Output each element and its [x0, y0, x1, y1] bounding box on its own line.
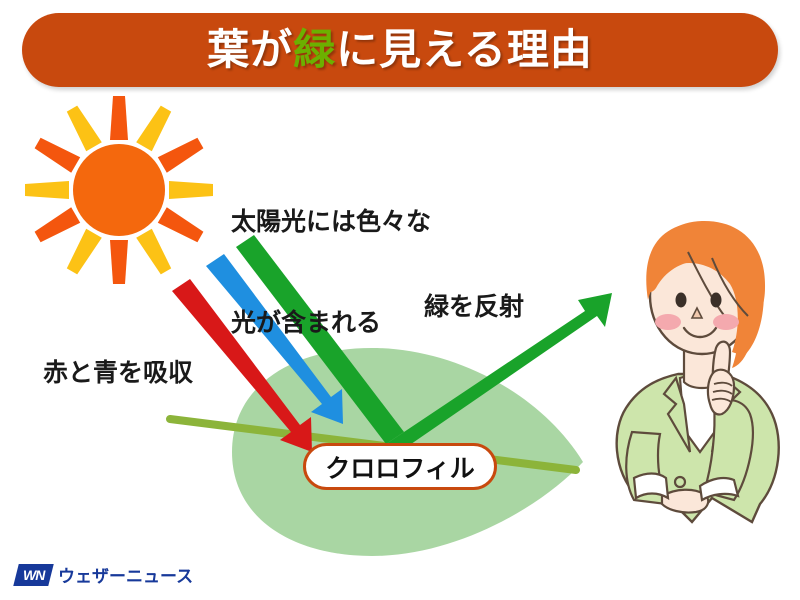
cuff-left	[634, 474, 668, 499]
absorb-label: 赤と青を吸収	[43, 357, 193, 391]
sunlight-caption: 太陽光には色々な 光が含まれる	[231, 139, 431, 407]
eye-right	[711, 293, 722, 308]
slide-canvas: 葉が緑に見える理由	[0, 0, 800, 600]
wn-mark-text: WN	[23, 567, 44, 583]
chlorophyll-label: クロロフィル	[325, 449, 475, 485]
wn-mark-icon: WN	[13, 564, 53, 586]
sunlight-caption-line2: 光が含まれる	[231, 307, 431, 341]
chlorophyll-callout: クロロフィル	[303, 443, 497, 490]
cheek-right	[713, 314, 739, 330]
sunlight-caption-line1: 太陽光には色々な	[231, 206, 431, 240]
brand-name: ウェザーニュース	[58, 562, 193, 587]
eye-left	[676, 293, 687, 308]
reflect-label: 緑を反射	[424, 291, 524, 325]
sun-core	[73, 144, 165, 236]
sun-icon	[25, 96, 213, 284]
brand-logo: WN ウェザーニュース	[16, 562, 193, 587]
cheek-left	[655, 314, 681, 330]
person-illustration	[617, 221, 779, 522]
